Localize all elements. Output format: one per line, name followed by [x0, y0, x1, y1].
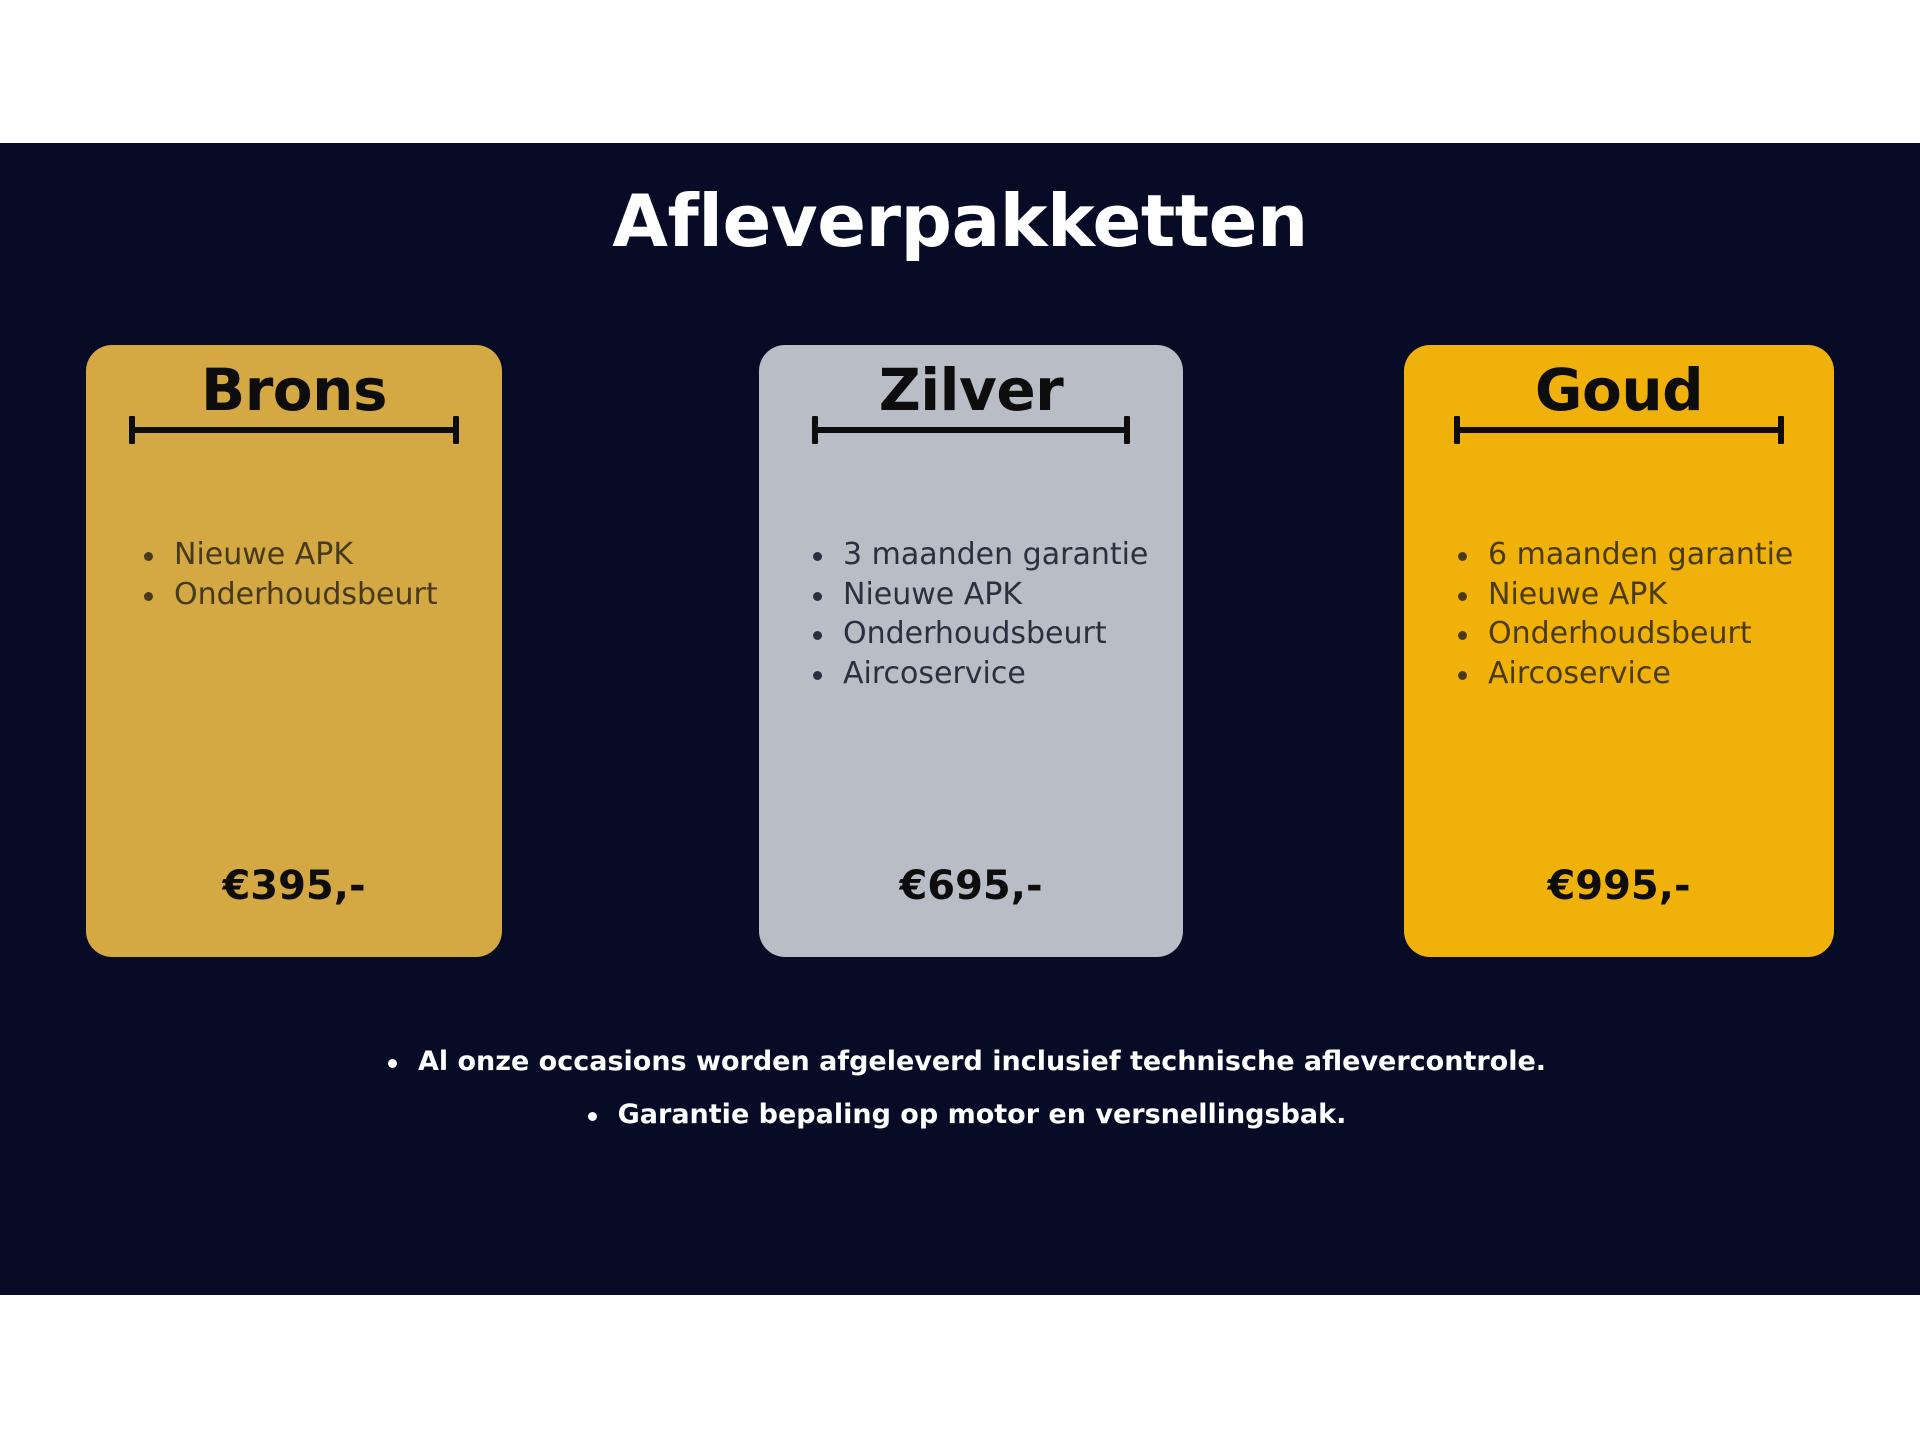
package-card-brons[interactable]: Brons Nieuwe APK Onderhoudsbeurt €395,-: [86, 345, 502, 957]
feature-list-goud: 6 maanden garantie Nieuwe APK Onderhouds…: [1446, 535, 1793, 693]
dimension-rule-icon: [812, 416, 1130, 442]
list-item: Aircoservice: [1446, 654, 1793, 694]
package-card-zilver[interactable]: Zilver 3 maanden garantie Nieuwe APK Ond…: [759, 345, 1183, 957]
list-item: Nieuwe APK: [801, 575, 1148, 615]
package-name-brons: Brons: [86, 359, 502, 422]
feature-list-brons: Nieuwe APK Onderhoudsbeurt: [132, 535, 438, 614]
dimension-rule-icon: [1454, 416, 1784, 442]
page-title: Afleverpakketten: [0, 185, 1920, 257]
dimension-bar-icon: [1454, 427, 1784, 433]
list-item: Aircoservice: [801, 654, 1148, 694]
package-card-goud[interactable]: Goud 6 maanden garantie Nieuwe APK Onder…: [1404, 345, 1834, 957]
footer-notes: Al onze occasions worden afgeleverd incl…: [0, 1048, 1920, 1128]
list-item: Onderhoudsbeurt: [132, 575, 438, 615]
package-name-goud: Goud: [1404, 359, 1834, 422]
slide-canvas: Afleverpakketten Brons Nieuwe APK Onderh…: [0, 143, 1920, 1295]
footer-note-text: Garantie bepaling op motor en versnellin…: [574, 1101, 1347, 1128]
list-item: 6 maanden garantie: [1446, 535, 1793, 575]
list-item: 3 maanden garantie: [801, 535, 1148, 575]
card-header-zilver: Zilver: [759, 345, 1183, 442]
dimension-rule-icon: [129, 416, 459, 442]
package-price-brons: €395,-: [86, 863, 502, 909]
dimension-cap-right-icon: [1778, 416, 1784, 444]
footer-note-text: Al onze occasions worden afgeleverd incl…: [374, 1048, 1546, 1075]
list-item: Onderhoudsbeurt: [801, 614, 1148, 654]
dimension-cap-right-icon: [1124, 416, 1130, 444]
footer-note-row: Garantie bepaling op motor en versnellin…: [0, 1101, 1920, 1128]
footer-note-row: Al onze occasions worden afgeleverd incl…: [0, 1048, 1920, 1075]
dimension-cap-right-icon: [453, 416, 459, 444]
list-item: Onderhoudsbeurt: [1446, 614, 1793, 654]
package-price-goud: €995,-: [1404, 863, 1834, 909]
dimension-bar-icon: [129, 427, 459, 433]
package-price-zilver: €695,-: [759, 863, 1183, 909]
card-header-brons: Brons: [86, 345, 502, 442]
package-name-zilver: Zilver: [759, 359, 1183, 422]
slide-page: Afleverpakketten Brons Nieuwe APK Onderh…: [0, 0, 1920, 1440]
dimension-bar-icon: [812, 427, 1130, 433]
list-item: Nieuwe APK: [132, 535, 438, 575]
card-header-goud: Goud: [1404, 345, 1834, 442]
feature-list-zilver: 3 maanden garantie Nieuwe APK Onderhouds…: [801, 535, 1148, 693]
list-item: Nieuwe APK: [1446, 575, 1793, 615]
package-cards-row: Brons Nieuwe APK Onderhoudsbeurt €395,- …: [0, 345, 1920, 985]
